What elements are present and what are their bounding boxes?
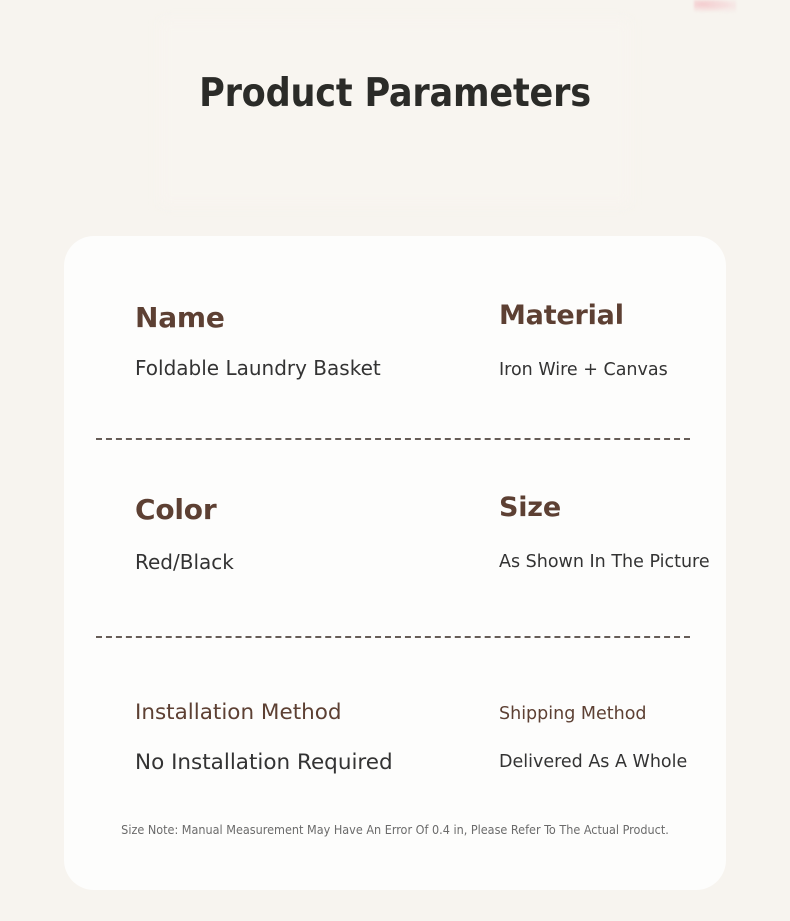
parameter-value-size: As Shown In The Picture (499, 554, 710, 572)
parameter-label-color: Color (135, 496, 216, 524)
product-parameters-page: { "page": { "title": "Product Parameters… (0, 0, 790, 921)
page-title: Product Parameters (0, 74, 790, 113)
watermark-artifact (694, 0, 736, 14)
parameter-label-shipping-method: Shipping Method (499, 706, 647, 724)
parameter-value-material: Iron Wire + Canvas (499, 362, 668, 380)
parameter-value-color: Red/Black (135, 552, 234, 572)
parameter-label-material: Material (499, 302, 624, 329)
parameter-label-size: Size (499, 494, 561, 521)
parameter-label-installation-method: Installation Method (135, 702, 342, 724)
size-note: Size Note: Manual Measurement May Have A… (64, 824, 726, 837)
parameter-value-shipping-method: Delivered As A Whole (499, 754, 687, 772)
parameter-value-name: Foldable Laundry Basket (135, 358, 381, 378)
parameters-card: Name Foldable Laundry Basket Material Ir… (64, 236, 726, 890)
parameter-value-installation-method: No Installation Required (135, 752, 393, 774)
parameter-label-name: Name (135, 304, 225, 332)
row-divider (96, 636, 690, 638)
row-divider (96, 438, 690, 440)
